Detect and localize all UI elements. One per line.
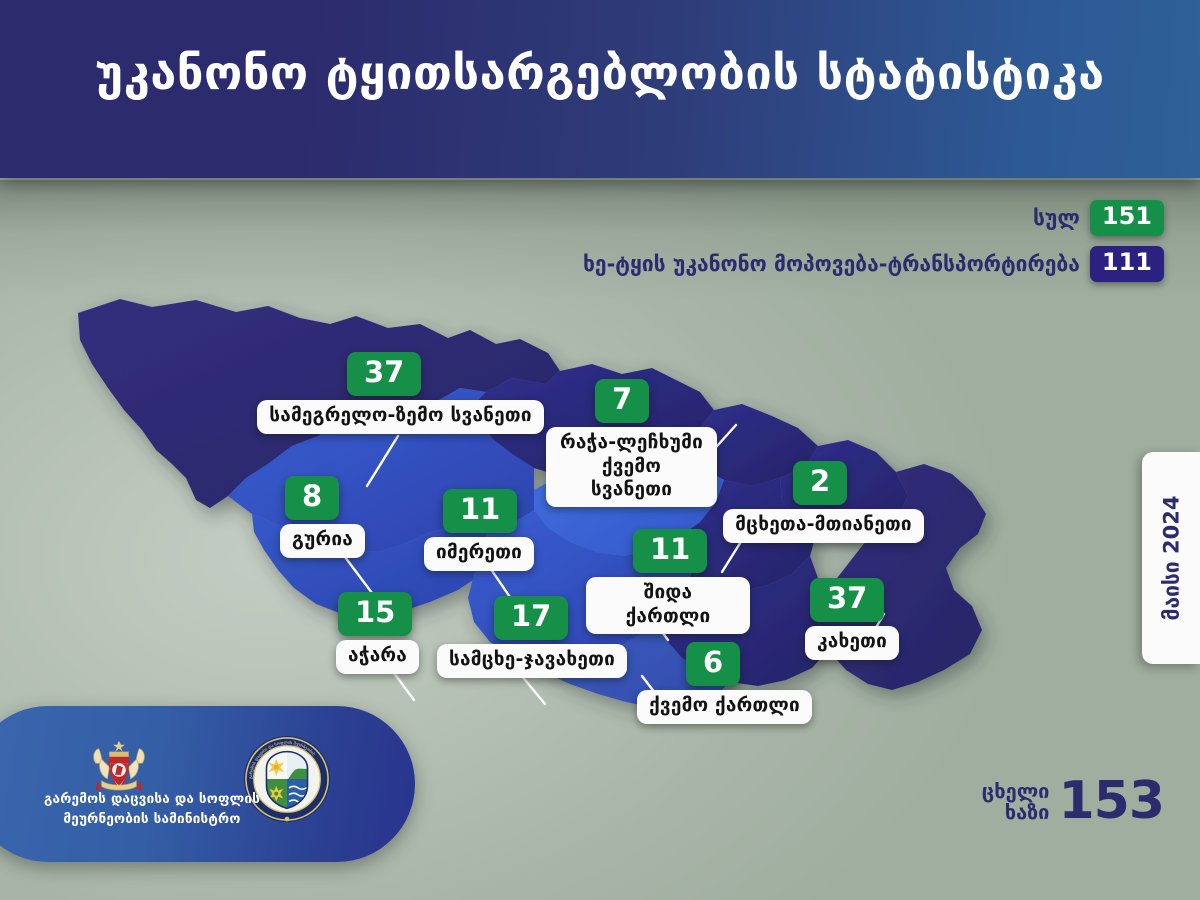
region-count-badge: 8 [285, 476, 339, 520]
region-name-label: სამეგრელო-ზემო სვანეთი [257, 400, 544, 433]
region-name-label: კახეთი [805, 626, 899, 659]
region-marker: 6ქვემო ქართლი [637, 642, 812, 724]
region-count-badge: 17 [494, 596, 568, 640]
region-count-badge: 7 [595, 379, 649, 423]
page-title: უკანონო ტყითსარგებლობის სტატისტიკა [0, 48, 1200, 100]
region-name-label: იმერეთი [424, 537, 534, 570]
region-name-label: ქვემო ქართლი [637, 690, 812, 723]
region-count-badge: 15 [338, 592, 412, 636]
region-name-label: გურია [280, 524, 365, 557]
region-marker: 15აჭარა [336, 592, 419, 674]
region-marker: 11იმერეთი [424, 489, 534, 571]
region-marker: 37კახეთი [805, 578, 899, 660]
region-count-badge: 2 [793, 461, 847, 505]
hotline-label: ცხელი ხაზი [982, 781, 1050, 823]
region-marker: 2მცხეთა-მთიანეთი [723, 461, 924, 543]
region-marker: 37სამეგრელო-ზემო სვანეთი [257, 352, 544, 434]
region-count-badge: 37 [810, 578, 884, 622]
region-name-label: რაჭა-ლეჩხუმი ქვემო სვანეთი [546, 427, 717, 507]
region-count-badge: 37 [347, 352, 421, 396]
region-marker: 7რაჭა-ლეჩხუმი ქვემო სვანეთი [546, 379, 717, 507]
region-name-label: აჭარა [336, 640, 419, 673]
region-name-label: სამცხე-ჯავახეთი [437, 644, 627, 677]
region-count-badge: 11 [443, 489, 517, 533]
region-count-badge: 11 [633, 529, 707, 573]
footer-bar [0, 706, 415, 862]
ministry-name: გარემოს დაცვისა და სოფლის მეურნეობის სამ… [22, 790, 282, 829]
date-tab: მაისი 2024 [1142, 452, 1200, 664]
header-banner: უკანონო ტყითსარგებლობის სტატისტიკა [0, 0, 1200, 178]
region-count-badge: 6 [686, 642, 740, 686]
hotline-number: 153 [1058, 778, 1164, 826]
infographic-canvas: უკანონო ტყითსარგებლობის სტატისტიკა სულ 1… [0, 0, 1200, 900]
region-marker: 17სამცხე-ჯავახეთი [437, 596, 627, 678]
region-name-label: მცხეთა-მთიანეთი [723, 509, 924, 542]
hotline: ცხელი ხაზი 153 [982, 778, 1164, 826]
region-marker: 8გურია [280, 476, 365, 558]
date-tab-label: მაისი 2024 [1159, 496, 1183, 621]
